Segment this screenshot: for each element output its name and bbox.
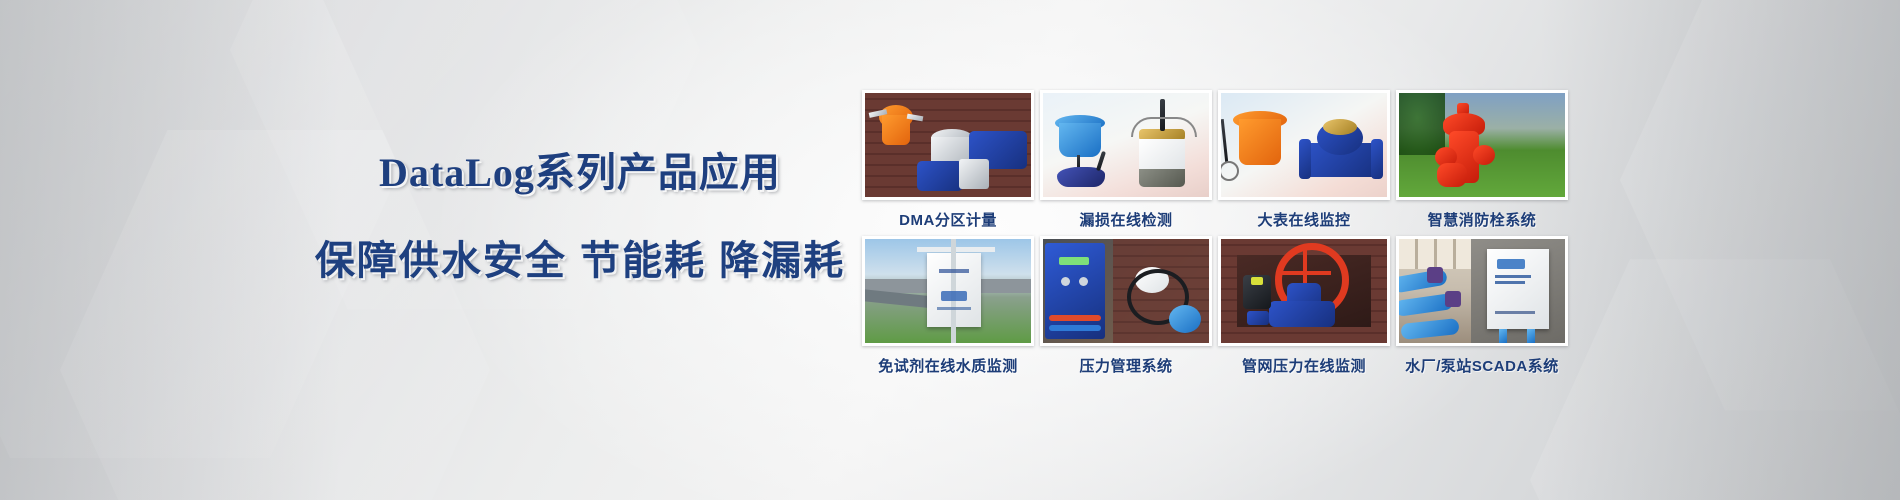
headline-primary: DataLog系列产品应用 <box>300 140 860 198</box>
product-card-network-pressure-monitoring[interactable]: 管网压力在线监测 <box>1218 236 1390 376</box>
product-thumbnail[interactable] <box>862 236 1034 346</box>
product-caption: 智慧消防栓系统 <box>1396 209 1568 230</box>
product-card-dma-metering[interactable]: DMA分区计量 <box>862 90 1034 230</box>
scene-meter-and-cap <box>1221 93 1387 197</box>
scene-valve-chamber <box>1221 239 1387 343</box>
product-card-scada-system[interactable]: 水厂/泵站SCADA系统 <box>1396 236 1568 376</box>
product-caption: 大表在线监控 <box>1218 209 1390 230</box>
product-caption: 漏损在线检测 <box>1040 209 1212 230</box>
product-thumbnail[interactable] <box>1218 90 1390 200</box>
product-thumbnail[interactable] <box>1396 90 1568 200</box>
product-thumbnail[interactable] <box>1040 236 1212 346</box>
product-caption: 水厂/泵站SCADA系统 <box>1396 355 1568 376</box>
product-card-leak-detection[interactable]: 漏损在线检测 <box>1040 90 1212 230</box>
right-vignette <box>1540 0 1900 500</box>
scene-brick-chamber <box>865 93 1031 197</box>
product-card-large-meter-monitoring[interactable]: 大表在线监控 <box>1218 90 1390 230</box>
scene-water-quality-cabinet <box>865 239 1031 343</box>
product-application-banner: DataLog系列产品应用 保障供水安全 节能耗 降漏耗 DMA分区计量 <box>0 0 1900 500</box>
scene-leak-sensors <box>1043 93 1209 197</box>
product-card-reagentless-water-quality[interactable]: 免试剂在线水质监测 <box>862 236 1034 376</box>
product-caption: 免试剂在线水质监测 <box>862 355 1034 376</box>
product-thumbnail[interactable] <box>862 90 1034 200</box>
product-caption: 管网压力在线监测 <box>1218 355 1390 376</box>
product-card-smart-hydrant[interactable]: 智慧消防栓系统 <box>1396 90 1568 230</box>
product-thumbnail[interactable] <box>1396 236 1568 346</box>
product-card-pressure-management[interactable]: 压力管理系统 <box>1040 236 1212 376</box>
product-grid: DMA分区计量 漏损在线检测 <box>862 90 1568 376</box>
left-vignette <box>0 0 340 500</box>
scene-control-box <box>1043 239 1209 343</box>
banner-headline: DataLog系列产品应用 保障供水安全 节能耗 降漏耗 <box>300 140 860 286</box>
headline-secondary: 保障供水安全 节能耗 降漏耗 <box>300 228 860 286</box>
scene-pump-station <box>1399 239 1565 343</box>
product-thumbnail[interactable] <box>1040 90 1212 200</box>
product-caption: 压力管理系统 <box>1040 355 1212 376</box>
product-thumbnail[interactable] <box>1218 236 1390 346</box>
scene-fire-hydrant <box>1399 93 1565 197</box>
product-caption: DMA分区计量 <box>862 209 1034 230</box>
